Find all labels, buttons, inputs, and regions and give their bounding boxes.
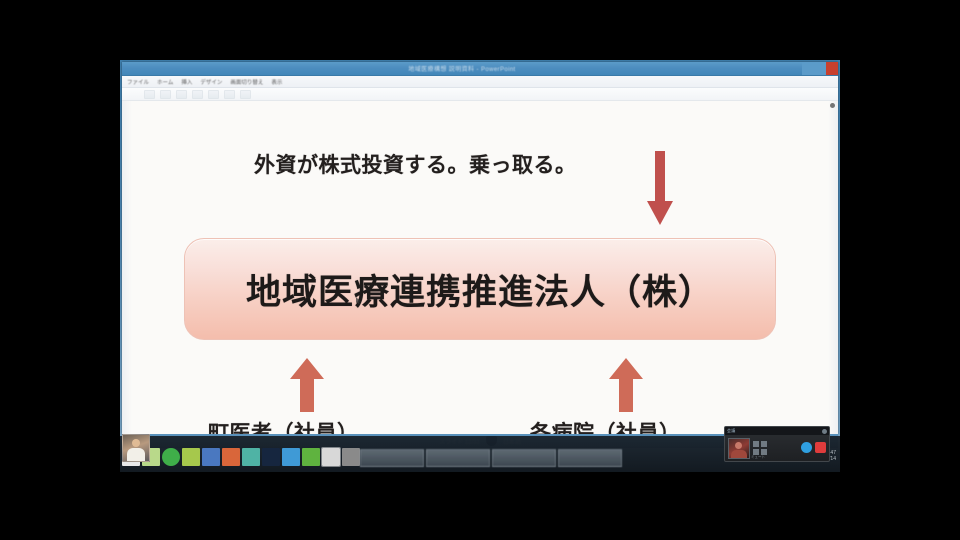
meeting-overlay-body: ミュート: [725, 435, 829, 461]
menu-item-design[interactable]: デザイン: [200, 78, 222, 86]
slide-headline: 外資が株式投資する。乗っ取る。: [254, 149, 577, 179]
member-label-right: 各病院（社員）: [530, 417, 681, 435]
taskbar-window-button[interactable]: [426, 449, 490, 467]
scroll-thumb[interactable]: [830, 103, 835, 108]
slide-canvas[interactable]: 外資が株式投資する。乗っ取る。 地域医療連携推進法人（株）: [122, 101, 838, 435]
end-call-button[interactable]: [815, 442, 826, 453]
meeting-overlay-panel[interactable]: 会議 ミュート: [724, 426, 830, 462]
taskbar-window-button[interactable]: [492, 449, 556, 467]
microphone-button[interactable]: [801, 442, 812, 453]
toolbar-chip-icon[interactable]: [192, 90, 203, 99]
arrow-up-icon-right: [608, 357, 644, 413]
menu-bar[interactable]: ファイル ホーム 挿入 デザイン 画面切り替え 表示: [122, 76, 838, 88]
participant-video-tile[interactable]: [728, 438, 750, 459]
arrow-up-icon-left: [289, 357, 325, 413]
entity-box-label: 地域医療連携推進法人（株）: [246, 264, 714, 315]
menu-item-file[interactable]: ファイル: [127, 78, 149, 86]
taskbar-window-group[interactable]: [360, 449, 622, 467]
meeting-overlay-title: 会議: [727, 428, 735, 434]
expand-icon[interactable]: [822, 429, 827, 434]
toolbar-chip-icon[interactable]: [176, 90, 187, 99]
window-controls: [802, 62, 838, 75]
taskbar-window-button[interactable]: [360, 449, 424, 467]
taskbar-icon-12[interactable]: [342, 448, 360, 466]
arrow-down-icon: [646, 151, 674, 227]
participant-tile[interactable]: [761, 441, 767, 447]
taskbar-icon-4[interactable]: [182, 448, 200, 466]
presentation-window[interactable]: 地域医療構想 説明資料 - PowerPoint ファイル ホーム 挿入 デザイ…: [122, 62, 838, 434]
minimize-button[interactable]: [802, 62, 814, 75]
taskbar-icon-10[interactable]: [302, 448, 320, 466]
presenter-head: [132, 439, 140, 447]
entity-box[interactable]: 地域医療連携推進法人（株）: [184, 238, 776, 340]
toolbar-chip-icon[interactable]: [224, 90, 235, 99]
menu-item-view[interactable]: 表示: [271, 78, 282, 86]
taskbar-icon-11[interactable]: [322, 448, 340, 466]
canvas-left-margin: [122, 101, 132, 435]
screenshot-stage: 地域医療構想 説明資料 - PowerPoint ファイル ホーム 挿入 デザイ…: [0, 0, 960, 540]
taskbar-icon-5[interactable]: [202, 448, 220, 466]
participant-body: [731, 450, 747, 459]
close-button[interactable]: [826, 62, 838, 75]
presenter-thumbnail: [122, 434, 150, 462]
mouse-cursor-icon: [356, 297, 361, 304]
participant-grid: [753, 441, 767, 455]
toolbar[interactable]: [122, 88, 838, 101]
window-titlebar[interactable]: 地域医療構想 説明資料 - PowerPoint: [122, 62, 838, 76]
presenter-body: [127, 448, 145, 461]
taskbar-icon-6[interactable]: [222, 448, 240, 466]
participant-tile[interactable]: [753, 441, 759, 447]
member-label-left: 町医者（社員）: [208, 417, 359, 435]
canvas-right-margin: [828, 101, 838, 435]
menu-item-home[interactable]: ホーム: [157, 78, 173, 86]
taskbar-window-button[interactable]: [558, 449, 622, 467]
meeting-overlay-caption: ミュート: [751, 455, 765, 460]
meeting-action-buttons[interactable]: [801, 442, 826, 453]
toolbar-chip-icon[interactable]: [208, 90, 219, 99]
toolbar-chip-icon[interactable]: [144, 90, 155, 99]
taskbar-icon-3[interactable]: [162, 448, 180, 466]
participant-head: [735, 442, 742, 449]
meeting-overlay-header[interactable]: 会議: [725, 427, 829, 435]
taskbar-icon-8[interactable]: [262, 448, 280, 466]
menu-item-transition[interactable]: 画面切り替え: [230, 78, 263, 86]
maximize-button[interactable]: [814, 62, 826, 75]
window-title: 地域医療構想 説明資料 - PowerPoint: [122, 64, 802, 73]
toolbar-chip-icon[interactable]: [160, 90, 171, 99]
menu-item-insert[interactable]: 挿入: [181, 78, 192, 86]
taskbar-icon-9[interactable]: [282, 448, 300, 466]
shared-screen-video: 地域医療構想 説明資料 - PowerPoint ファイル ホーム 挿入 デザイ…: [120, 60, 840, 472]
toolbar-chip-icon[interactable]: [240, 90, 251, 99]
taskbar-icon-group[interactable]: [122, 448, 360, 466]
taskbar-icon-7[interactable]: [242, 448, 260, 466]
